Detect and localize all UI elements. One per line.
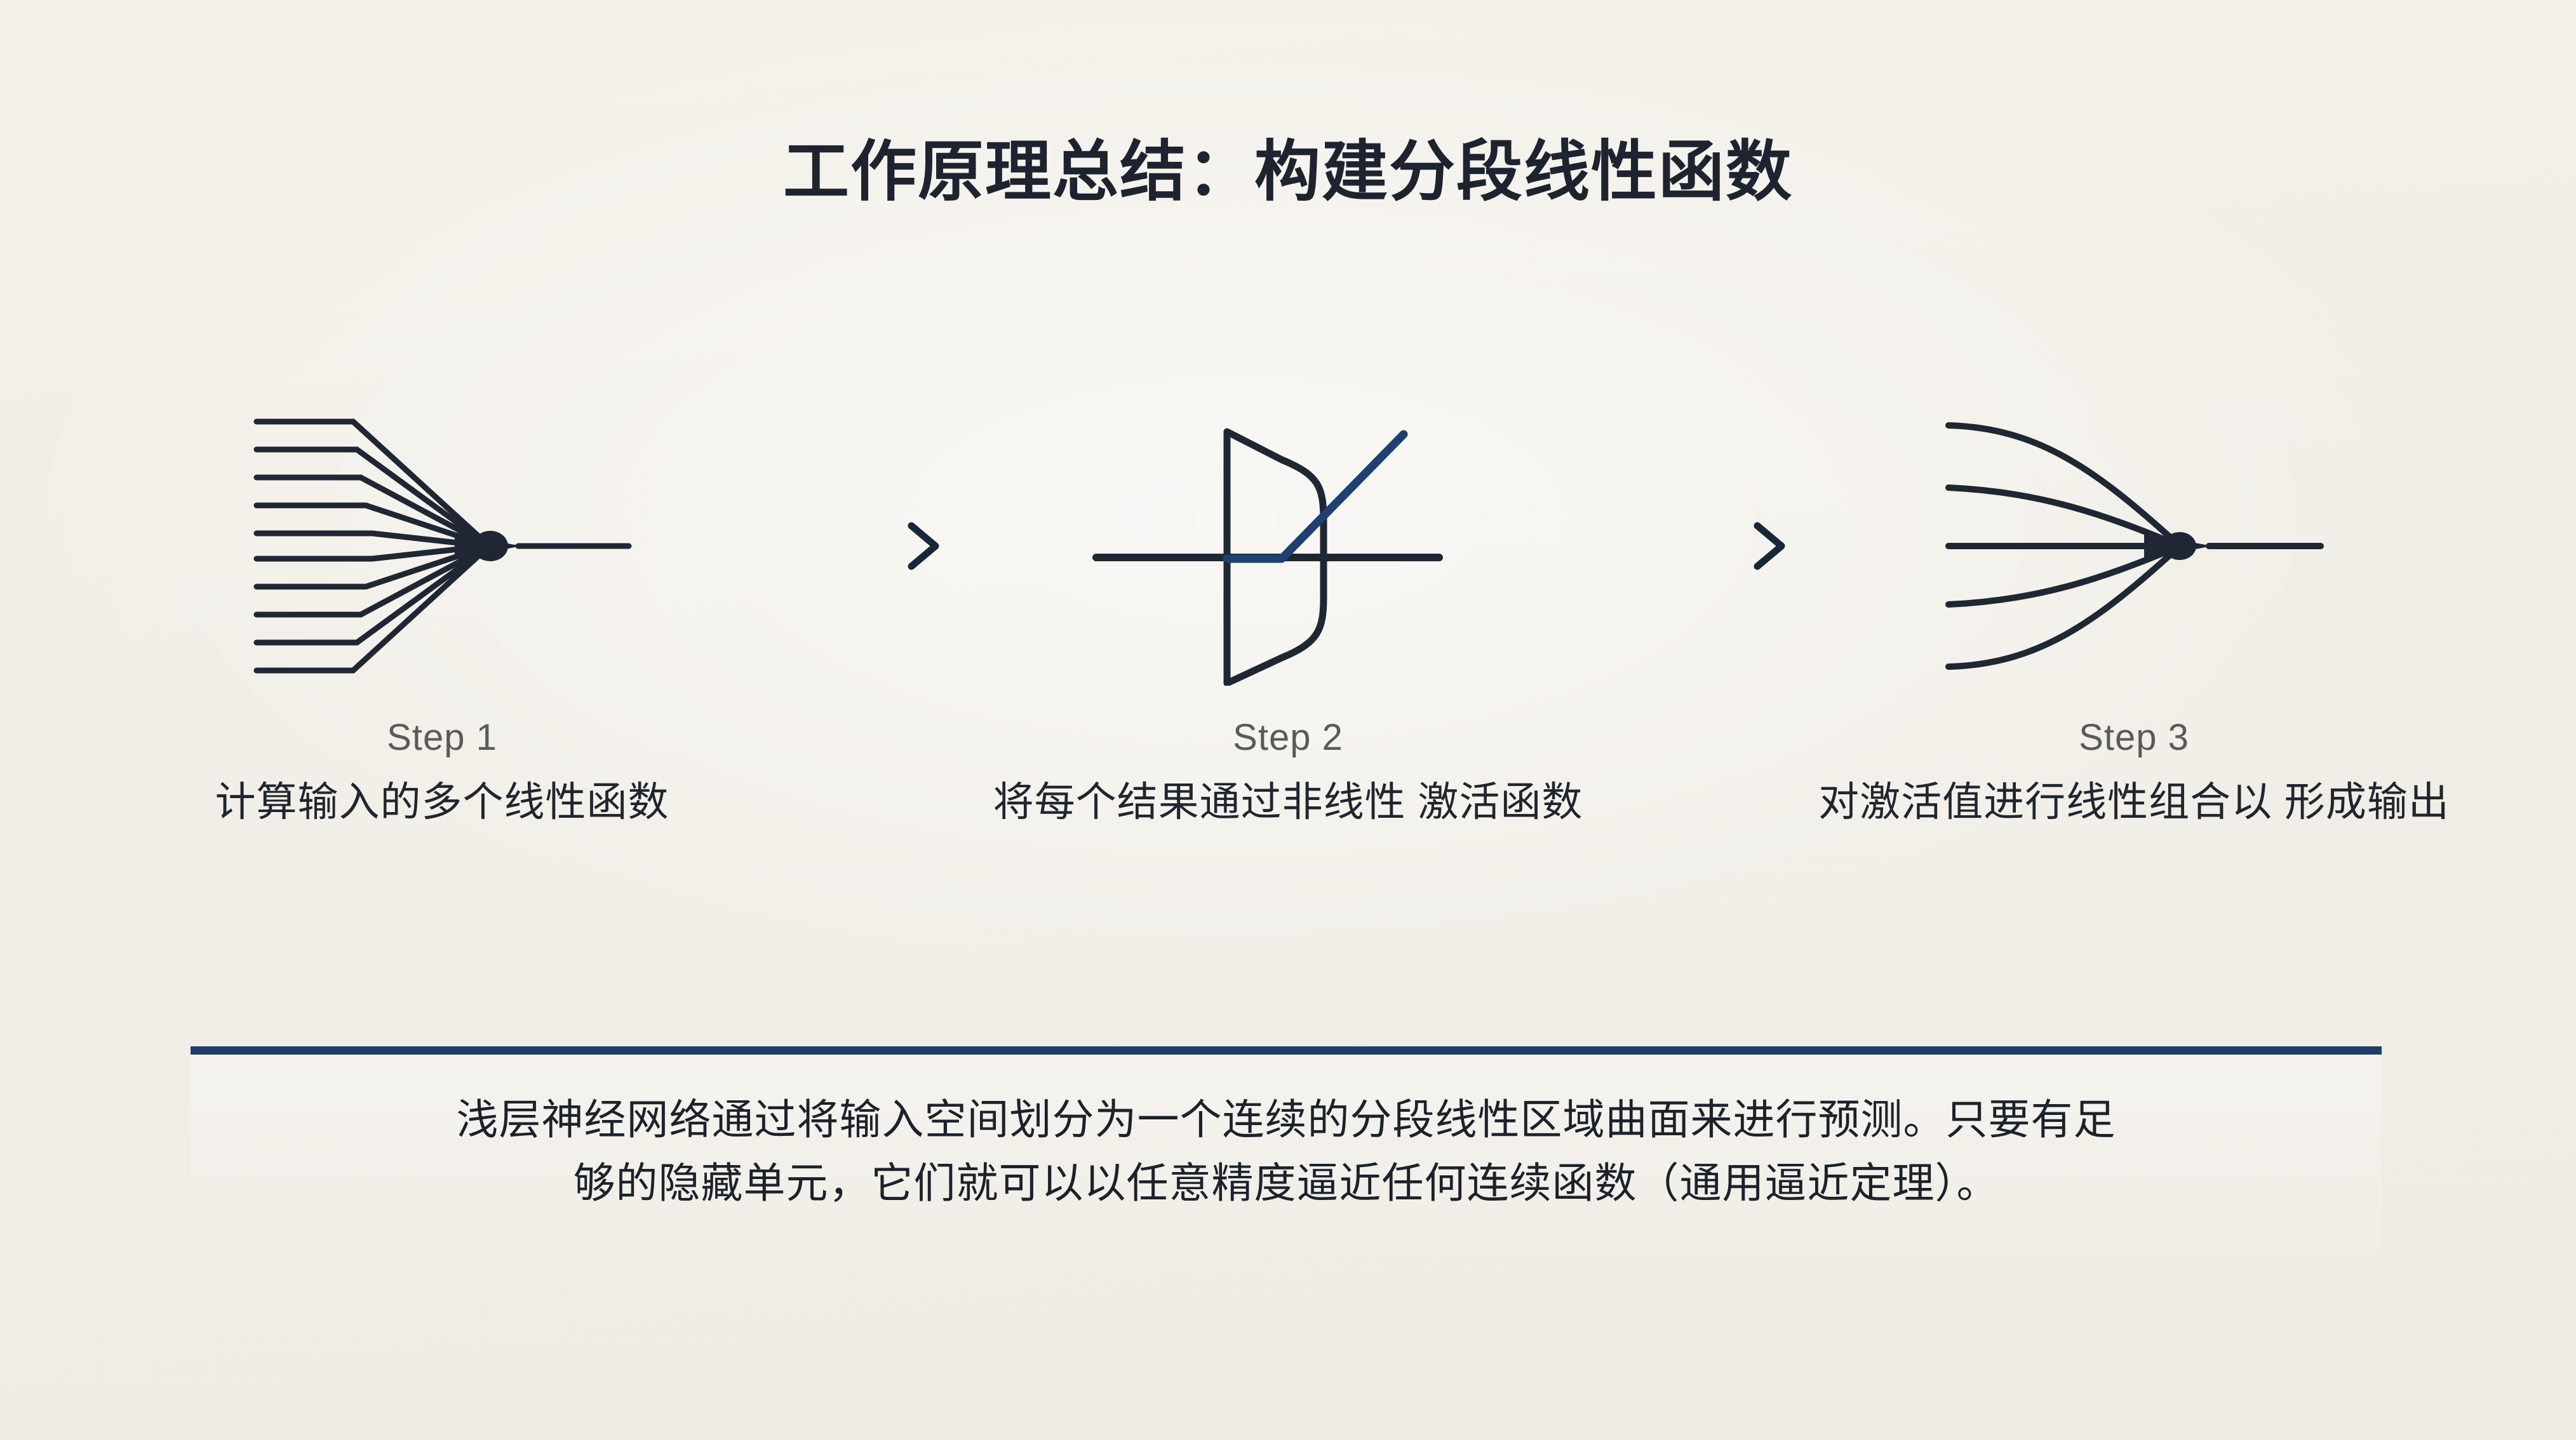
page-title: 工作原理总结：构建分段线性函数	[0, 137, 2576, 209]
connector-1	[770, 406, 960, 686]
step-3-caption-line-1: 对激活值进行线性组合以	[1818, 779, 2272, 825]
arrow-right-icon	[773, 508, 957, 584]
step-card-3: Step 3 对激活值进行线性组合以 形成输出	[1806, 406, 2462, 830]
step-2-caption-line-1: 将每个结果通过非线性	[993, 779, 1406, 825]
summary-callout-text: 浅层神经网络通过将输入空间划分为一个连续的分段线性区域曲面来进行预测。只要有足 …	[262, 1088, 2311, 1215]
step-2-caption: 将每个结果通过非线性 激活函数	[993, 775, 1583, 830]
steps-row: Step 1 计算输入的多个线性函数	[114, 406, 2462, 830]
step-3-kicker: Step 3	[2079, 716, 2189, 759]
summary-callout: 浅层神经网络通过将输入空间划分为一个连续的分段线性区域曲面来进行预测。只要有足 …	[191, 1046, 2382, 1260]
arrow-right-icon	[1619, 508, 1803, 584]
relu-activation-icon	[1091, 406, 1485, 686]
step-3-caption-line-2: 形成输出	[2284, 779, 2450, 825]
weighted-sum-curves-icon	[1937, 406, 2331, 686]
step-1-caption: 计算输入的多个线性函数	[215, 775, 669, 830]
step-card-1: Step 1 计算输入的多个线性函数	[114, 406, 770, 830]
step-2-caption-line-2: 激活函数	[1418, 779, 1583, 825]
connector-2	[1616, 406, 1806, 686]
step-2-figure	[1091, 406, 1485, 686]
summary-line-2: 够的隐藏单元，它们就可以以任意精度逼近任何连续函数（通用逼近定理）。	[262, 1151, 2311, 1215]
step-3-figure	[1937, 406, 2331, 686]
step-card-2: Step 2 将每个结果通过非线性 激活函数	[960, 406, 1616, 830]
step-1-kicker: Step 1	[387, 716, 497, 759]
fan-in-linear-functions-icon	[245, 406, 639, 686]
summary-line-1: 浅层神经网络通过将输入空间划分为一个连续的分段线性区域曲面来进行预测。只要有足	[262, 1088, 2311, 1151]
step-1-figure	[245, 406, 639, 686]
step-3-caption: 对激活值进行线性组合以 形成输出	[1818, 775, 2450, 830]
step-2-kicker: Step 2	[1233, 716, 1343, 759]
